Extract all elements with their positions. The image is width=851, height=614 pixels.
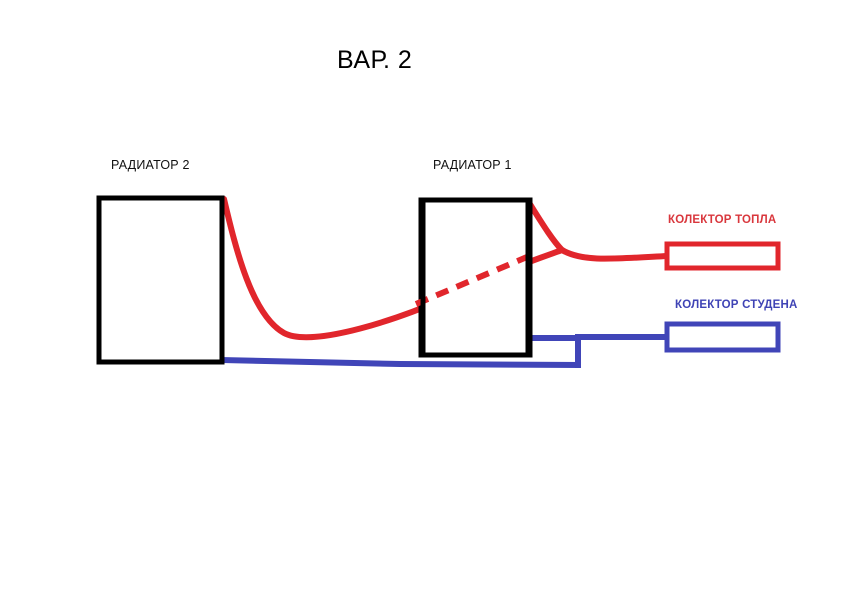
radiator-2-box — [99, 198, 222, 362]
cold-collector-label: КОЛЕКТОР СТУДЕНА — [675, 299, 798, 311]
radiator-2-label: РАДИАТОР 2 — [111, 158, 190, 172]
cold-pipe-from-radiator-1 — [530, 338, 578, 365]
radiator-1-box — [421, 200, 530, 355]
hot-collector-box — [667, 244, 778, 268]
hot-pipe-to-collector — [562, 250, 667, 259]
cold-collector-box — [667, 324, 778, 350]
radiator-1-label: РАДИАТОР 1 — [433, 158, 512, 172]
diagram-canvas: ВАР. 2 РАДИАТОР 2 РАДИАТОР 1 КОЛЕКТОР ТО… — [0, 0, 851, 614]
page-title: ВАР. 2 — [337, 46, 412, 75]
cold-pipe-from-radiator-2 — [220, 360, 578, 365]
hot-collector-label: КОЛЕКТОР ТОПЛА — [668, 214, 776, 226]
hot-pipe-branch-radiator-1 — [528, 201, 562, 250]
